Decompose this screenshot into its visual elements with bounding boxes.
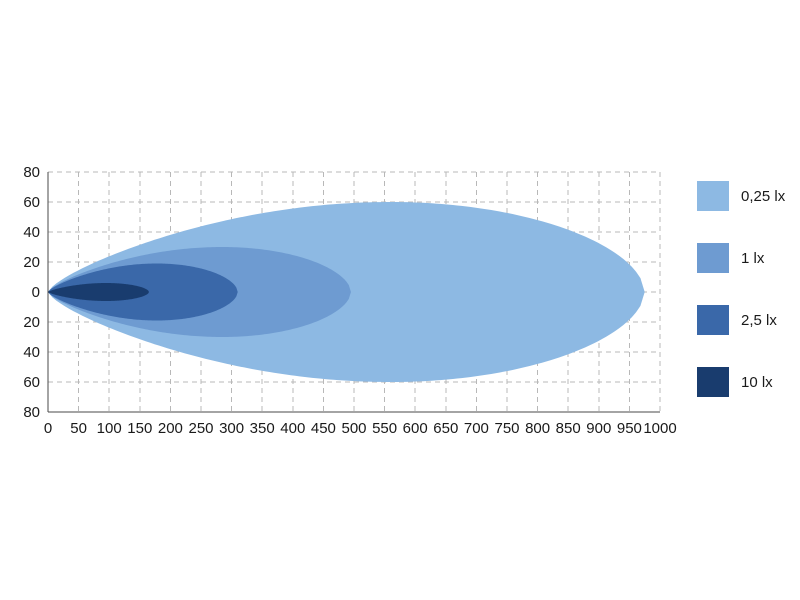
y-tick-label: 80 <box>23 404 40 421</box>
y-tick-label: 20 <box>23 314 40 331</box>
x-tick-label: 350 <box>250 420 275 437</box>
y-tick-label: 40 <box>23 344 40 361</box>
x-tick-label: 650 <box>433 420 458 437</box>
legend-label: 1 lx <box>741 250 765 267</box>
x-tick-label: 250 <box>188 420 213 437</box>
legend-label: 0,25 lx <box>741 188 786 205</box>
x-tick-label: 950 <box>617 420 642 437</box>
x-tick-label: 750 <box>494 420 519 437</box>
chart-canvas: 80604020020406080 0501001502002503003504… <box>0 0 800 600</box>
x-tick-label: 900 <box>586 420 611 437</box>
x-tick-label: 600 <box>403 420 428 437</box>
x-tick-label: 850 <box>556 420 581 437</box>
y-tick-label: 0 <box>32 284 40 301</box>
x-tick-label: 400 <box>280 420 305 437</box>
y-tick-label: 60 <box>23 194 40 211</box>
x-tick-label: 1000 <box>643 420 676 437</box>
x-tick-label: 450 <box>311 420 336 437</box>
x-tick-label: 500 <box>341 420 366 437</box>
legend-swatch <box>697 305 729 335</box>
legend-swatch <box>697 367 729 397</box>
y-tick-label: 60 <box>23 374 40 391</box>
x-tick-label: 700 <box>464 420 489 437</box>
x-tick-label: 0 <box>44 420 52 437</box>
x-tick-label: 800 <box>525 420 550 437</box>
y-tick-label: 40 <box>23 224 40 241</box>
legend-label: 10 lx <box>741 374 773 391</box>
legend-swatch <box>697 243 729 273</box>
legend-swatch <box>697 181 729 211</box>
y-tick-label: 80 <box>23 164 40 181</box>
legend-label: 2,5 lx <box>741 312 777 329</box>
x-tick-label: 200 <box>158 420 183 437</box>
light-distribution-chart: 80604020020406080 0501001502002503003504… <box>0 0 800 600</box>
y-tick-label: 20 <box>23 254 40 271</box>
x-tick-label: 100 <box>97 420 122 437</box>
x-tick-label: 50 <box>70 420 87 437</box>
x-tick-label: 150 <box>127 420 152 437</box>
x-tick-label: 300 <box>219 420 244 437</box>
x-tick-label: 550 <box>372 420 397 437</box>
